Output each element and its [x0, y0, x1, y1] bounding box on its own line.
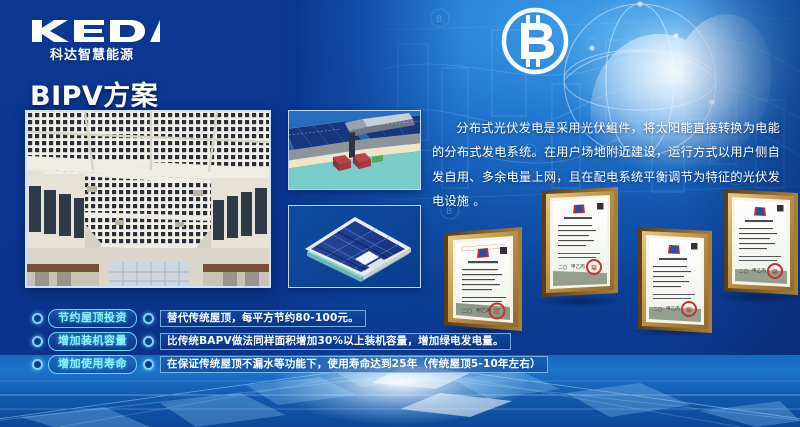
- svg-text:甲乙丙: 甲乙丙: [476, 307, 491, 314]
- svg-text:二〇: 二〇: [558, 265, 568, 271]
- svg-text:二〇: 二〇: [462, 309, 472, 315]
- brand-logo-subtitle: 科达智慧能源: [28, 44, 156, 63]
- feature-tag: 节约屋顶投资: [48, 309, 137, 328]
- svg-text:章: 章: [494, 307, 501, 316]
- feature-tag: 增加使用寿命: [48, 355, 137, 374]
- feature-list: 节约屋顶投资 替代传统屋顶，每平方节约80-100元。 增加装机容量 比传统BA…: [32, 309, 432, 378]
- panel-array-diagram: [288, 205, 421, 288]
- certificate-gallery: 章 二〇甲乙丙: [440, 185, 800, 335]
- ring-bullet-icon: [32, 359, 43, 370]
- bipv-poster-slide: BBB: [0, 0, 800, 427]
- svg-text:甲乙丙: 甲乙丙: [666, 305, 680, 312]
- keda-wordmark-icon: [24, 18, 160, 44]
- ring-bullet-icon: [143, 313, 154, 324]
- brand-logo[interactable]: 科达智慧能源: [24, 18, 160, 64]
- certificate-item: 章 二〇甲乙丙: [638, 227, 712, 333]
- atrium-skylight-photo: [25, 110, 271, 288]
- ring-bullet-icon: [143, 336, 154, 347]
- feature-description: 比传统BAPV做法同样面积增加30%以上装机容量，增加绿电发电量。: [160, 333, 511, 350]
- svg-text:章: 章: [772, 267, 779, 276]
- ring-bullet-icon: [32, 313, 43, 324]
- certificate-item: 章 二〇甲乙丙: [724, 189, 798, 295]
- feature-description: 替代传统屋顶，每平方节约80-100元。: [160, 310, 366, 327]
- svg-text:甲乙丙: 甲乙丙: [752, 267, 766, 274]
- svg-text:章: 章: [591, 263, 598, 272]
- ring-bullet-icon: [32, 336, 43, 347]
- ring-bullet-icon: [143, 359, 154, 370]
- svg-text:二〇: 二〇: [653, 307, 663, 313]
- mounting-section-diagram: [288, 110, 421, 190]
- certificate-group-icon: 章 二〇甲乙丙: [440, 185, 800, 335]
- feature-description: 在保证传统屋顶不漏水等功能下，使用寿命达到25年（传统屋顶5-10年左右）: [160, 356, 548, 373]
- feature-row[interactable]: 节约屋顶投资 替代传统屋顶，每平方节约80-100元。: [32, 309, 432, 327]
- feature-row[interactable]: 增加装机容量 比传统BAPV做法同样面积增加30%以上装机容量，增加绿电发电量。: [32, 332, 432, 350]
- svg-text:二〇: 二〇: [739, 269, 749, 275]
- svg-text:章: 章: [686, 305, 693, 314]
- bitcoin-circle-icon: [497, 3, 573, 79]
- feature-row[interactable]: 增加使用寿命 在保证传统屋顶不漏水等功能下，使用寿命达到25年（传统屋顶5-10…: [32, 355, 432, 373]
- svg-text:甲乙丙: 甲乙丙: [571, 263, 585, 270]
- feature-tag: 增加装机容量: [48, 332, 137, 351]
- page-title: BIPV方案: [30, 74, 158, 113]
- certificate-item: 章 二〇甲乙丙: [444, 227, 522, 331]
